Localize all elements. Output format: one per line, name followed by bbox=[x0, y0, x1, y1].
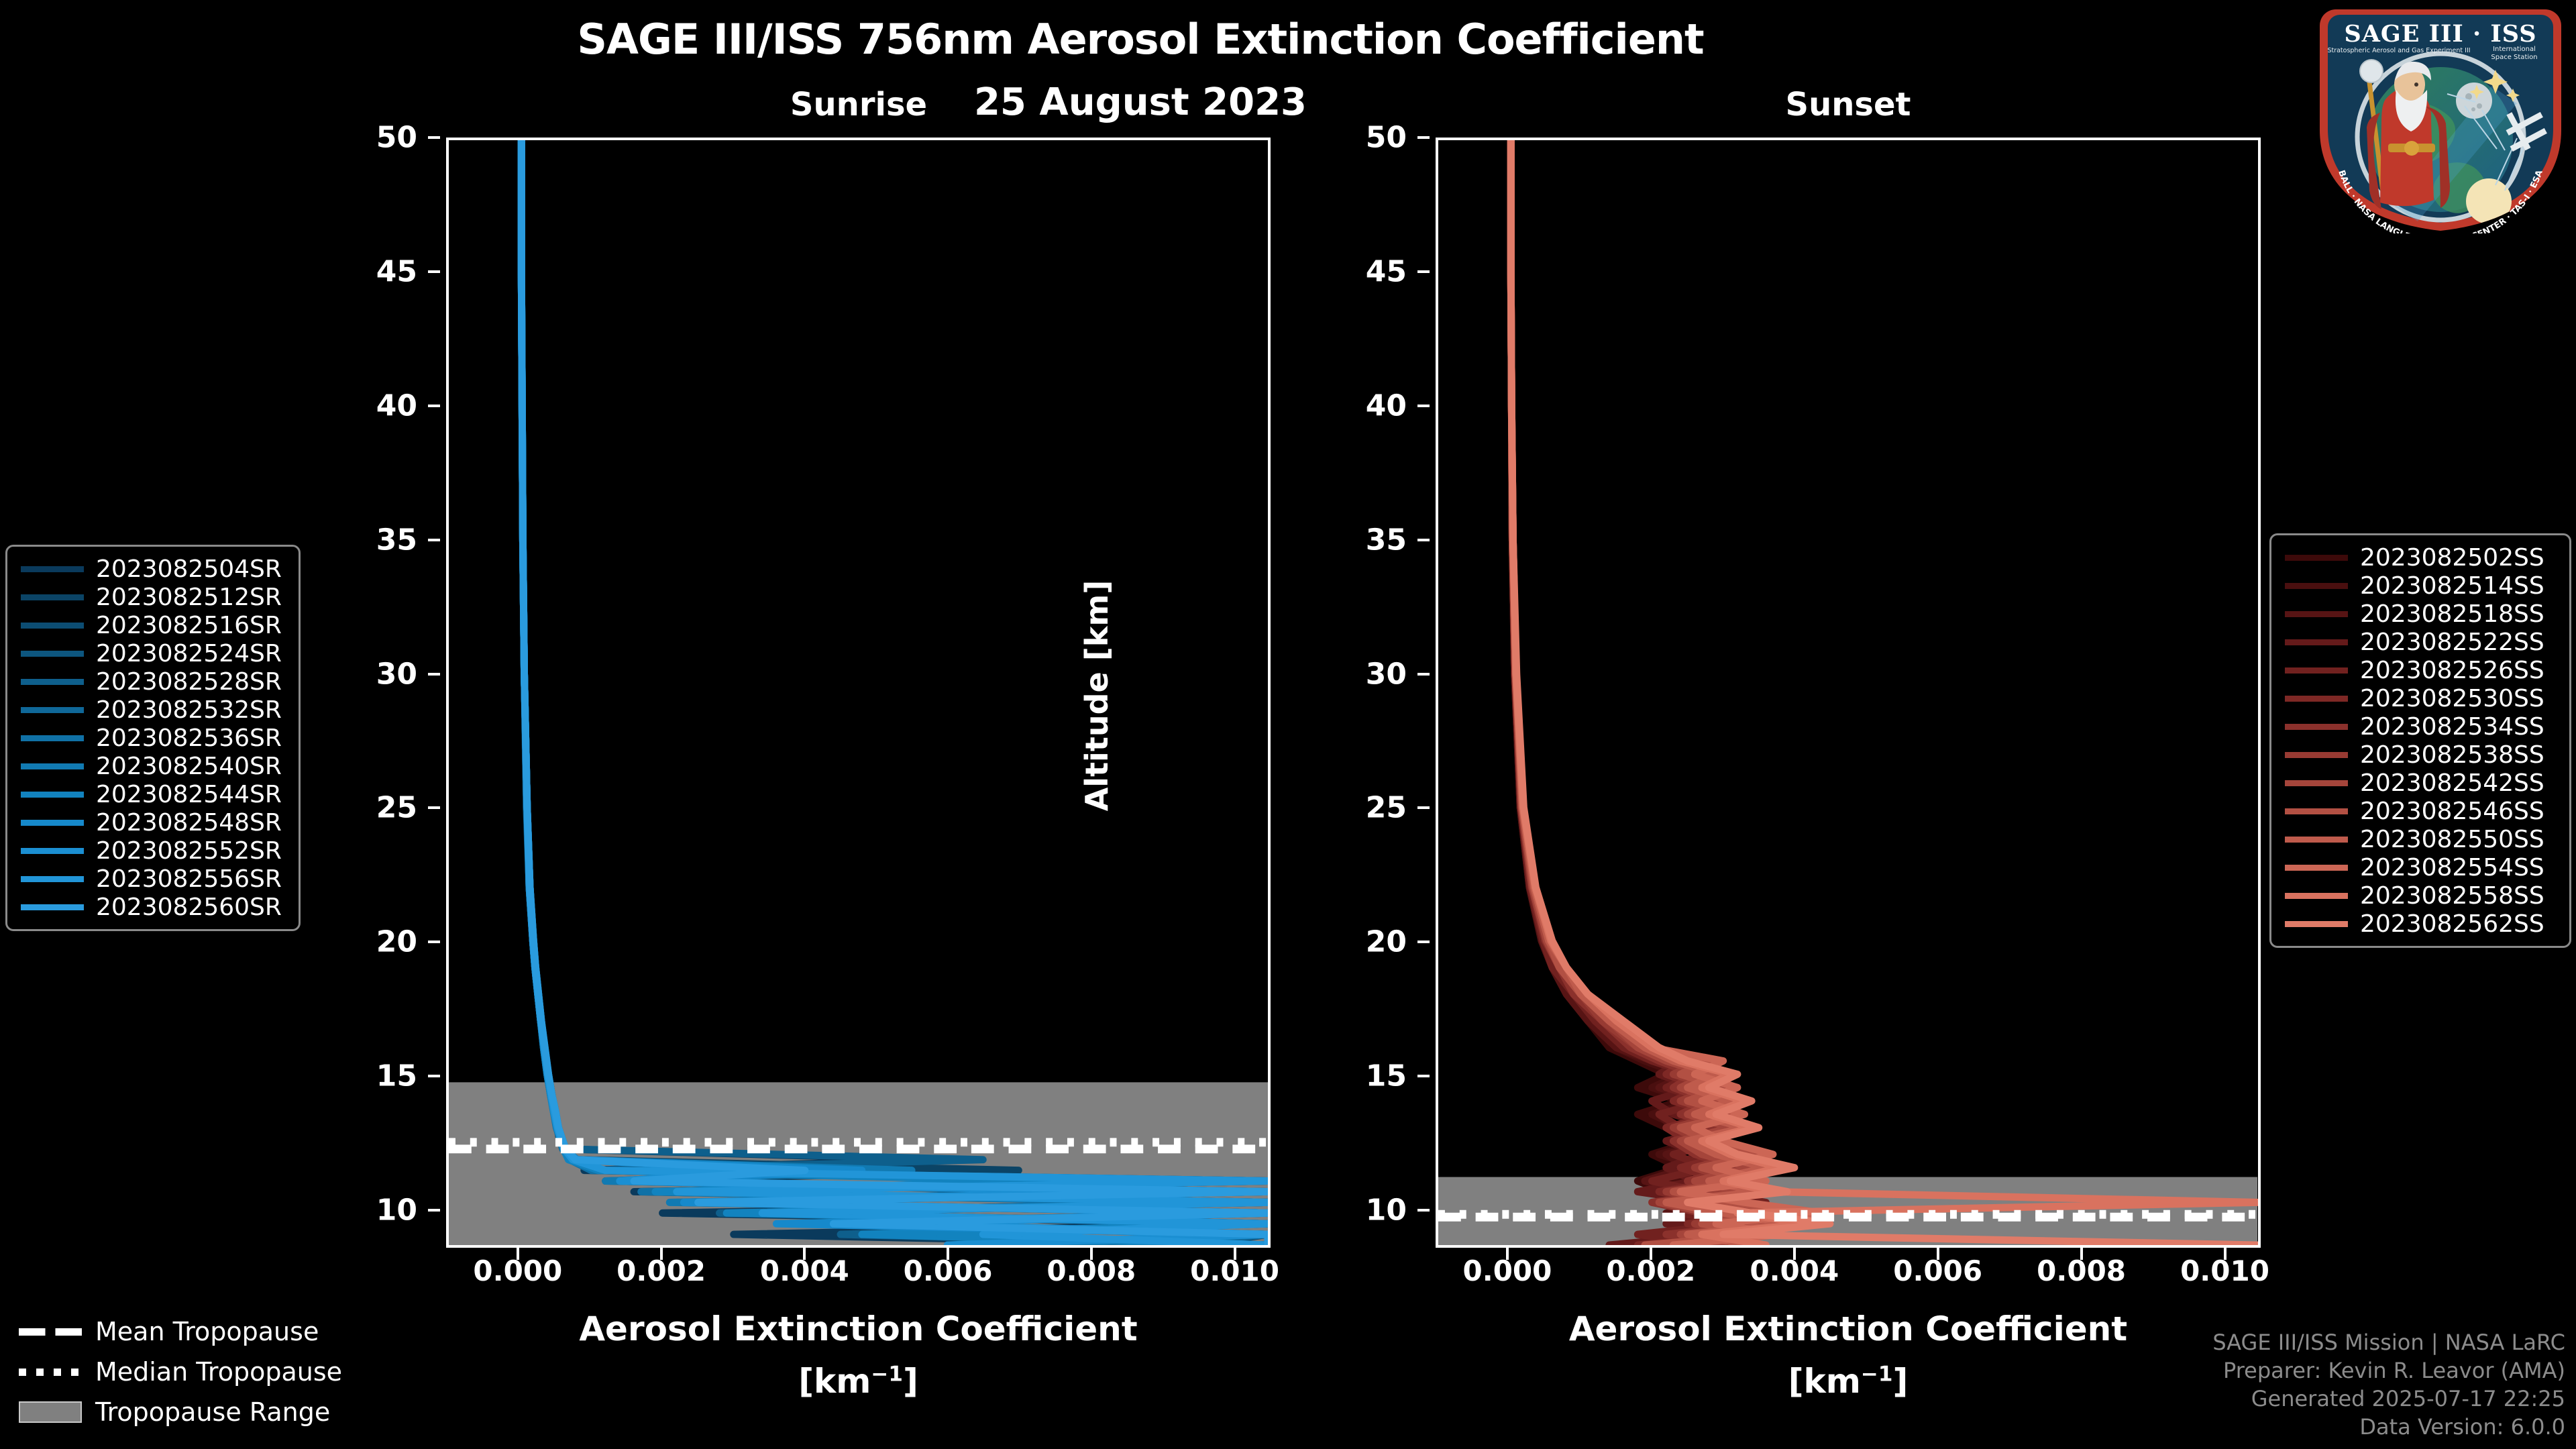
x-tick-label-0.008: 0.008 bbox=[1046, 1254, 1136, 1287]
legend-label-2023082540SR: 2023082540SR bbox=[96, 753, 282, 780]
y-tick-label-35: 35 bbox=[1366, 523, 1407, 557]
legend-color-swatch bbox=[21, 651, 84, 657]
legend-item[interactable]: 2023082522SS bbox=[2281, 628, 2560, 656]
legend-label-2023082504SR: 2023082504SR bbox=[96, 555, 282, 583]
legend-item[interactable]: 2023082548SR bbox=[17, 808, 289, 837]
unit-suffix: ] bbox=[1892, 1362, 1908, 1401]
legend-color-swatch bbox=[2285, 639, 2348, 645]
legend-color-swatch bbox=[21, 735, 84, 741]
y-tick-label-10: 10 bbox=[376, 1193, 417, 1228]
sunrise-plot-panel[interactable] bbox=[446, 138, 1271, 1248]
legend-color-swatch bbox=[2285, 752, 2348, 758]
unit-exponent: −1 bbox=[871, 1362, 903, 1386]
y-tick-mark-40 bbox=[428, 405, 440, 407]
series-line-2023082552SR bbox=[521, 140, 1268, 1245]
y-tick-mark-35 bbox=[428, 539, 440, 541]
x-tick-label-0.000: 0.000 bbox=[473, 1254, 562, 1287]
legend-color-swatch bbox=[2285, 865, 2348, 871]
legend-label-2023082562SS: 2023082562SS bbox=[2360, 910, 2544, 938]
legend-color-swatch bbox=[21, 594, 84, 600]
legend-item[interactable]: 2023082562SS bbox=[2281, 910, 2560, 938]
y-tick-label-45: 45 bbox=[1366, 254, 1407, 288]
series-line-2023082530SS bbox=[1511, 140, 1780, 1245]
legend-label-2023082554SS: 2023082554SS bbox=[2360, 854, 2544, 881]
series-line-2023082516SR bbox=[521, 140, 1268, 1245]
legend-label-2023082558SS: 2023082558SS bbox=[2360, 882, 2544, 910]
sage-iii-iss-logo: SAGE III · ISS Stratospheric Aerosol and… bbox=[2316, 5, 2565, 233]
legend-color-swatch bbox=[21, 820, 84, 826]
svg-text:International: International bbox=[2493, 46, 2536, 53]
unit-prefix: [km bbox=[1788, 1362, 1861, 1401]
y-tick-mark-50 bbox=[1417, 136, 1430, 139]
legend-label-2023082522SS: 2023082522SS bbox=[2360, 629, 2544, 656]
y-tick-label-15: 15 bbox=[1366, 1059, 1407, 1093]
legend-color-swatch bbox=[2285, 808, 2348, 814]
legend-item-median-tropopause: Median Tropopause bbox=[16, 1352, 392, 1392]
sunset-x-axis-label: Aerosol Extinction Coefficient bbox=[1436, 1309, 2261, 1348]
series-line-2023082542SS bbox=[1511, 140, 1780, 1245]
legend-color-swatch bbox=[2285, 893, 2348, 899]
y-tick-mark-10 bbox=[1417, 1209, 1430, 1212]
y-tick-label-40: 40 bbox=[376, 388, 417, 423]
x-tick-label-0.006: 0.006 bbox=[904, 1254, 993, 1287]
legend-label-2023082530SS: 2023082530SS bbox=[2360, 685, 2544, 712]
sunset-y-axis: 101520253035404550 bbox=[1305, 138, 1430, 1248]
legend-label-mean-tropopause: Mean Tropopause bbox=[95, 1317, 319, 1346]
legend-item[interactable]: 2023082528SR bbox=[17, 667, 289, 696]
y-tick-mark-25 bbox=[1417, 806, 1430, 809]
y-tick-label-10: 10 bbox=[1366, 1193, 1407, 1228]
legend-item-mean-tropopause: Mean Tropopause bbox=[16, 1311, 392, 1352]
sunset-legend[interactable]: 2023082502SS2023082514SS2023082518SS2023… bbox=[2269, 533, 2571, 948]
dashed-line-icon bbox=[19, 1328, 82, 1336]
credits-line-version: Data Version: 6.0.0 bbox=[2212, 1413, 2565, 1441]
legend-label-2023082502SS: 2023082502SS bbox=[2360, 544, 2544, 572]
legend-color-swatch bbox=[2285, 724, 2348, 730]
sunrise-x-axis-label: Aerosol Extinction Coefficient bbox=[446, 1309, 1271, 1348]
legend-item[interactable]: 2023082544SR bbox=[17, 780, 289, 808]
series-line-2023082560SR bbox=[521, 140, 1268, 1245]
y-tick-label-50: 50 bbox=[1366, 121, 1407, 155]
y-tick-mark-40 bbox=[1417, 405, 1430, 407]
series-line-2023082512SR bbox=[521, 140, 1268, 1245]
sunrise-y-axis: 101520253035404550 bbox=[315, 138, 440, 1248]
legend-label-2023082542SS: 2023082542SS bbox=[2360, 769, 2544, 797]
y-tick-label-35: 35 bbox=[376, 523, 417, 557]
series-line-2023082504SR bbox=[521, 140, 1268, 1245]
legend-label-2023082538SS: 2023082538SS bbox=[2360, 741, 2544, 769]
y-tick-mark-35 bbox=[1417, 539, 1430, 541]
sunrise-panel-label: Sunrise bbox=[446, 86, 1271, 123]
unit-prefix: [km bbox=[798, 1362, 871, 1401]
legend-color-swatch bbox=[21, 707, 84, 713]
series-line-2023082524SR bbox=[521, 140, 1268, 1245]
y-tick-mark-45 bbox=[1417, 270, 1430, 273]
credits-line-preparer: Preparer: Kevin R. Leavor (AMA) bbox=[2212, 1356, 2565, 1385]
y-tick-mark-15 bbox=[1417, 1075, 1430, 1077]
dotted-line-icon bbox=[19, 1368, 82, 1376]
x-tick-label-0.010: 0.010 bbox=[2180, 1254, 2269, 1287]
series-line-2023082540SR bbox=[521, 140, 1268, 1245]
y-tick-label-25: 25 bbox=[1366, 791, 1407, 825]
legend-color-swatch bbox=[21, 848, 84, 854]
y-tick-mark-10 bbox=[428, 1209, 440, 1212]
y-tick-label-30: 30 bbox=[376, 657, 417, 691]
legend-item[interactable]: 2023082542SS bbox=[2281, 769, 2560, 797]
y-tick-mark-50 bbox=[428, 136, 440, 139]
legend-item[interactable]: 2023082556SR bbox=[17, 865, 289, 893]
series-line-2023082528SR bbox=[521, 140, 1268, 1245]
svg-text:SAGE III · ISS: SAGE III · ISS bbox=[2344, 20, 2536, 48]
y-tick-mark-20 bbox=[1417, 941, 1430, 943]
legend-item[interactable]: 2023082554SS bbox=[2281, 853, 2560, 881]
legend-label-2023082512SR: 2023082512SR bbox=[96, 584, 282, 611]
legend-color-swatch bbox=[21, 763, 84, 769]
x-tick-label-0.002: 0.002 bbox=[1606, 1254, 1695, 1287]
legend-label-2023082536SR: 2023082536SR bbox=[96, 724, 282, 752]
legend-label-2023082514SS: 2023082514SS bbox=[2360, 572, 2544, 600]
legend-item[interactable]: 2023082524SR bbox=[17, 639, 289, 667]
y-tick-mark-25 bbox=[428, 806, 440, 809]
unit-suffix: ] bbox=[903, 1362, 918, 1401]
sunset-plot-canvas bbox=[1438, 140, 2258, 1245]
x-tick-label-0.002: 0.002 bbox=[616, 1254, 706, 1287]
series-line-2023082556SR bbox=[521, 140, 1268, 1245]
legend-color-swatch bbox=[2285, 837, 2348, 843]
legend-label-2023082528SR: 2023082528SR bbox=[96, 668, 282, 696]
legend-item[interactable]: 2023082540SR bbox=[17, 752, 289, 780]
legend-item[interactable]: 2023082560SR bbox=[17, 893, 289, 921]
legend-color-swatch bbox=[2285, 555, 2348, 561]
legend-label-tropopause-range: Tropopause Range bbox=[95, 1397, 330, 1427]
legend-item[interactable]: 2023082558SS bbox=[2281, 881, 2560, 910]
y-tick-label-45: 45 bbox=[376, 254, 417, 288]
sunset-y-axis-label: Altitude [km] bbox=[1079, 494, 1115, 897]
sunset-x-axis: 0.0000.0020.0040.0060.0080.010 bbox=[1436, 1248, 2261, 1308]
legend-label-2023082544SR: 2023082544SR bbox=[96, 781, 282, 808]
legend-item[interactable]: 2023082512SR bbox=[17, 583, 289, 611]
series-line-2023082562SS bbox=[1511, 140, 2257, 1245]
legend-item[interactable]: 2023082518SS bbox=[2281, 600, 2560, 628]
sunset-plot-panel[interactable] bbox=[1436, 138, 2261, 1248]
sunrise-x-axis-unit: [km−1] bbox=[446, 1362, 1271, 1401]
page-title: SAGE III/ISS 756nm Aerosol Extinction Co… bbox=[0, 15, 2281, 64]
legend-item[interactable]: 2023082546SS bbox=[2281, 797, 2560, 825]
x-tick-label-0.004: 0.004 bbox=[1750, 1254, 1839, 1287]
sunrise-legend[interactable]: 2023082504SR2023082512SR2023082516SR2023… bbox=[5, 545, 301, 931]
legend-color-swatch bbox=[2285, 780, 2348, 786]
legend-item[interactable]: 2023082526SS bbox=[2281, 656, 2560, 684]
x-tick-label-0.008: 0.008 bbox=[2037, 1254, 2126, 1287]
legend-item[interactable]: 2023082532SR bbox=[17, 696, 289, 724]
legend-label-2023082546SS: 2023082546SS bbox=[2360, 798, 2544, 825]
legend-item[interactable]: 2023082534SS bbox=[2281, 712, 2560, 741]
svg-text:Space Station: Space Station bbox=[2491, 54, 2537, 61]
tropopause-legend: Mean Tropopause Median Tropopause Tropop… bbox=[16, 1311, 392, 1432]
y-tick-label-25: 25 bbox=[376, 791, 417, 825]
sunset-x-axis-unit: [km−1] bbox=[1436, 1362, 2261, 1401]
legend-color-swatch bbox=[2285, 583, 2348, 589]
legend-label-2023082534SS: 2023082534SS bbox=[2360, 713, 2544, 741]
legend-label-2023082552SR: 2023082552SR bbox=[96, 837, 282, 865]
legend-color-swatch bbox=[21, 566, 84, 572]
y-tick-label-30: 30 bbox=[1366, 657, 1407, 691]
x-tick-label-0.000: 0.000 bbox=[1463, 1254, 1552, 1287]
legend-color-swatch bbox=[21, 792, 84, 798]
legend-color-swatch bbox=[21, 904, 84, 910]
legend-item[interactable]: 2023082516SR bbox=[17, 611, 289, 639]
legend-item[interactable]: 2023082514SS bbox=[2281, 572, 2560, 600]
x-tick-label-0.006: 0.006 bbox=[1893, 1254, 1982, 1287]
credits-line-mission: SAGE III/ISS Mission | NASA LaRC bbox=[2212, 1328, 2565, 1356]
series-line-2023082548SR bbox=[521, 140, 1268, 1245]
legend-item[interactable]: 2023082504SR bbox=[17, 555, 289, 583]
series-line-2023082558SS bbox=[1511, 140, 2257, 1245]
legend-item[interactable]: 2023082536SR bbox=[17, 724, 289, 752]
legend-label-2023082526SS: 2023082526SS bbox=[2360, 657, 2544, 684]
y-tick-mark-20 bbox=[428, 941, 440, 943]
legend-label-2023082560SR: 2023082560SR bbox=[96, 894, 282, 921]
y-tick-label-20: 20 bbox=[1366, 925, 1407, 959]
legend-item[interactable]: 2023082530SS bbox=[2281, 684, 2560, 712]
legend-color-swatch bbox=[2285, 667, 2348, 674]
legend-color-swatch bbox=[21, 876, 84, 882]
legend-color-swatch bbox=[21, 679, 84, 685]
y-tick-label-20: 20 bbox=[376, 925, 417, 959]
credits-block: SAGE III/ISS Mission | NASA LaRC Prepare… bbox=[2212, 1328, 2565, 1441]
x-tick-label-0.004: 0.004 bbox=[760, 1254, 849, 1287]
y-tick-mark-15 bbox=[428, 1075, 440, 1077]
legend-label-median-tropopause: Median Tropopause bbox=[95, 1357, 342, 1387]
sunset-panel-label: Sunset bbox=[1436, 86, 2261, 123]
legend-label-2023082516SR: 2023082516SR bbox=[96, 612, 282, 639]
legend-item[interactable]: 2023082502SS bbox=[2281, 543, 2560, 572]
y-tick-label-50: 50 bbox=[376, 121, 417, 155]
series-line-2023082532SR bbox=[521, 140, 1268, 1245]
x-tick-label-0.010: 0.010 bbox=[1190, 1254, 1279, 1287]
sunrise-x-axis: 0.0000.0020.0040.0060.0080.010 bbox=[446, 1248, 1271, 1308]
legend-item[interactable]: 2023082550SS bbox=[2281, 825, 2560, 853]
legend-color-swatch bbox=[21, 623, 84, 629]
legend-item[interactable]: 2023082552SR bbox=[17, 837, 289, 865]
unit-exponent: −1 bbox=[1861, 1362, 1893, 1386]
series-line-2023082544SR bbox=[521, 140, 1268, 1245]
y-tick-mark-30 bbox=[428, 673, 440, 676]
legend-label-2023082518SS: 2023082518SS bbox=[2360, 600, 2544, 628]
legend-label-2023082550SS: 2023082550SS bbox=[2360, 826, 2544, 853]
legend-label-2023082524SR: 2023082524SR bbox=[96, 640, 282, 667]
legend-label-2023082548SR: 2023082548SR bbox=[96, 809, 282, 837]
legend-label-2023082556SR: 2023082556SR bbox=[96, 865, 282, 893]
legend-color-swatch bbox=[2285, 921, 2348, 927]
y-tick-mark-45 bbox=[428, 270, 440, 273]
y-tick-mark-30 bbox=[1417, 673, 1430, 676]
credits-line-generated: Generated 2025-07-17 22:25 bbox=[2212, 1385, 2565, 1413]
y-tick-label-40: 40 bbox=[1366, 388, 1407, 423]
legend-label-2023082532SR: 2023082532SR bbox=[96, 696, 282, 724]
legend-color-swatch bbox=[2285, 611, 2348, 617]
shaded-band-icon bbox=[19, 1401, 82, 1423]
sunrise-plot-canvas bbox=[449, 140, 1268, 1245]
legend-color-swatch bbox=[2285, 696, 2348, 702]
legend-item[interactable]: 2023082538SS bbox=[2281, 741, 2560, 769]
series-line-2023082536SR bbox=[521, 140, 1268, 1245]
svg-text:Stratospheric Aerosol and Gas: Stratospheric Aerosol and Gas Experiment… bbox=[2327, 47, 2470, 54]
legend-item-tropopause-range: Tropopause Range bbox=[16, 1392, 392, 1432]
y-tick-label-15: 15 bbox=[376, 1059, 417, 1093]
